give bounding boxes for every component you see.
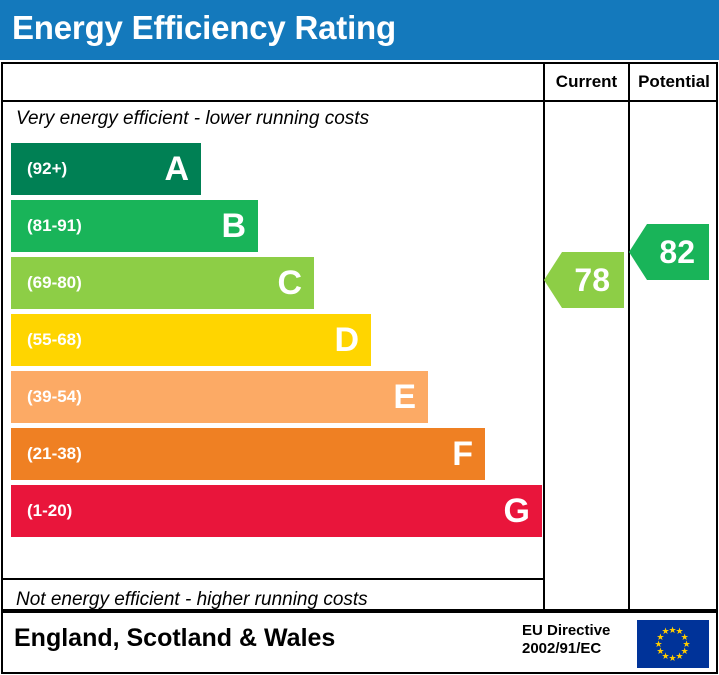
eu-star-icon: ★ (676, 652, 684, 661)
potential-column-separator (628, 62, 630, 611)
eu-star-icon: ★ (669, 654, 677, 663)
footer-region: England, Scotland & Wales (14, 624, 335, 653)
band-b-range: (81-91) (27, 216, 82, 236)
band-f: (21-38) F (11, 428, 485, 480)
current-marker-tip (544, 252, 562, 308)
band-e-range: (39-54) (27, 387, 82, 407)
band-d-letter: D (334, 323, 359, 357)
band-g-range: (1-20) (27, 501, 72, 521)
band-g: (1-20) G (11, 485, 542, 537)
band-d: (55-68) D (11, 314, 371, 366)
band-a-letter: A (164, 152, 189, 186)
eu-directive: EU Directive 2002/91/EC (522, 622, 610, 658)
band-d-range: (55-68) (27, 330, 82, 350)
title-bar: Energy Efficiency Rating (0, 0, 719, 60)
note-inefficient: Not energy efficient - higher running co… (16, 589, 368, 611)
page-title: Energy Efficiency Rating (12, 9, 396, 47)
header-separator (1, 100, 718, 102)
band-e-letter: E (393, 380, 416, 414)
eu-star-icon: ★ (662, 627, 670, 636)
current-rating-marker: 78 (562, 252, 624, 308)
band-f-letter: F (452, 437, 473, 471)
current-rating-value: 78 (574, 264, 624, 296)
band-e: (39-54) E (11, 371, 428, 423)
band-c: (69-80) C (11, 257, 314, 309)
current-column-separator (543, 62, 545, 611)
band-c-range: (69-80) (27, 273, 82, 293)
band-b-letter: B (221, 209, 246, 243)
column-header-potential: Potential (630, 72, 718, 92)
band-a: (92+) A (11, 143, 201, 195)
eu-flag-icon: ★★★★★★★★★★★★ (637, 620, 709, 668)
eu-directive-line1: EU Directive (522, 622, 610, 640)
band-b: (81-91) B (11, 200, 258, 252)
bottom-separator (1, 578, 543, 580)
potential-marker-tip (629, 224, 647, 280)
potential-rating-value: 82 (659, 236, 709, 268)
band-c-letter: C (277, 266, 302, 300)
column-header-current: Current (545, 72, 628, 92)
note-efficient: Very energy efficient - lower running co… (16, 108, 369, 130)
band-a-range: (92+) (27, 159, 67, 179)
potential-rating-marker: 82 (647, 224, 709, 280)
eu-directive-line2: 2002/91/EC (522, 640, 610, 658)
band-f-range: (21-38) (27, 444, 82, 464)
epc-chart: Energy Efficiency Rating Current Potenti… (0, 0, 719, 675)
band-g-letter: G (504, 494, 530, 528)
